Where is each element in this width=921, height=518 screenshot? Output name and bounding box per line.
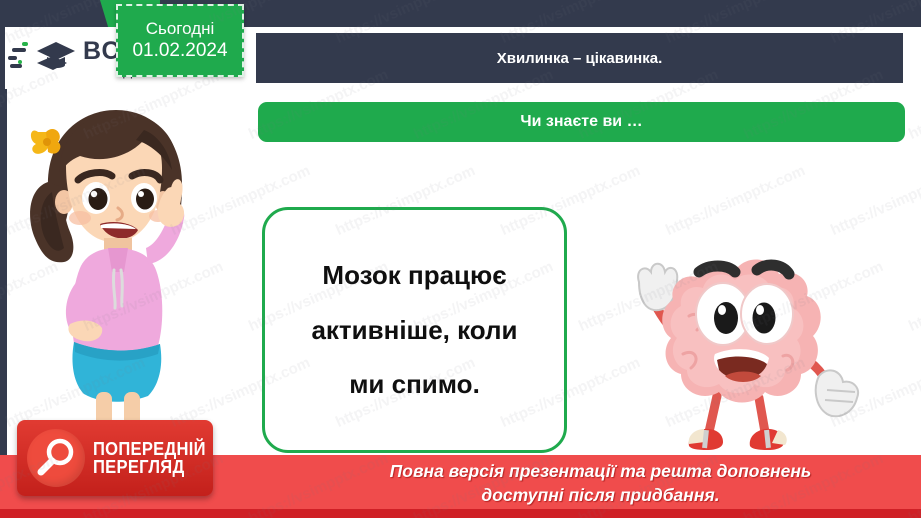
title-bar: Хвилинка – цікавинка. [256, 33, 903, 83]
girl-character [8, 96, 222, 436]
purchase-banner-line-2: доступні після придбання. [280, 484, 921, 508]
watermark-text: https://vsimpptx.com [663, 162, 808, 239]
subtitle-bar: Чи знаєте ви … [258, 102, 905, 142]
fact-line-2: активніше, коли [311, 316, 517, 345]
preview-badge[interactable]: ПОПЕРЕДНІЙ ПЕРЕГЛЯД [17, 420, 213, 496]
fact-line-1: Мозок працює [322, 261, 506, 290]
brain-mascot-character [631, 246, 875, 454]
purchase-banner-line-1: Повна версія презентації та решта доповн… [280, 460, 921, 484]
purchase-banner-text: Повна версія презентації та решта доповн… [280, 460, 921, 507]
fact-box: Мозок працює активніше, коли ми спимо. [262, 207, 567, 453]
motion-lines-icon [8, 41, 30, 75]
watermark-text: https://vsimpptx.com [828, 162, 921, 239]
banner-bottom-strip [0, 509, 921, 518]
slide-canvas: BCIM pptx Сьогодні 01.02.2024 Хвилинка –… [0, 0, 921, 518]
today-date-value: 01.02.2024 [132, 39, 227, 64]
preview-badge-line-1: ПОПЕРЕДНІЙ [93, 440, 206, 458]
fact-line-3: ми спимо. [349, 370, 480, 399]
graduation-cap-icon [34, 38, 78, 78]
today-date-badge: Сьогодні 01.02.2024 [116, 4, 244, 77]
preview-badge-line-2: ПЕРЕГЛЯД [93, 458, 206, 476]
magnifier-icon [27, 429, 85, 487]
watermark-text: https://vsimpptx.com [906, 258, 921, 335]
watermark-text: https://vsimpptx.com [906, 66, 921, 143]
today-label: Сьогодні [146, 18, 215, 39]
